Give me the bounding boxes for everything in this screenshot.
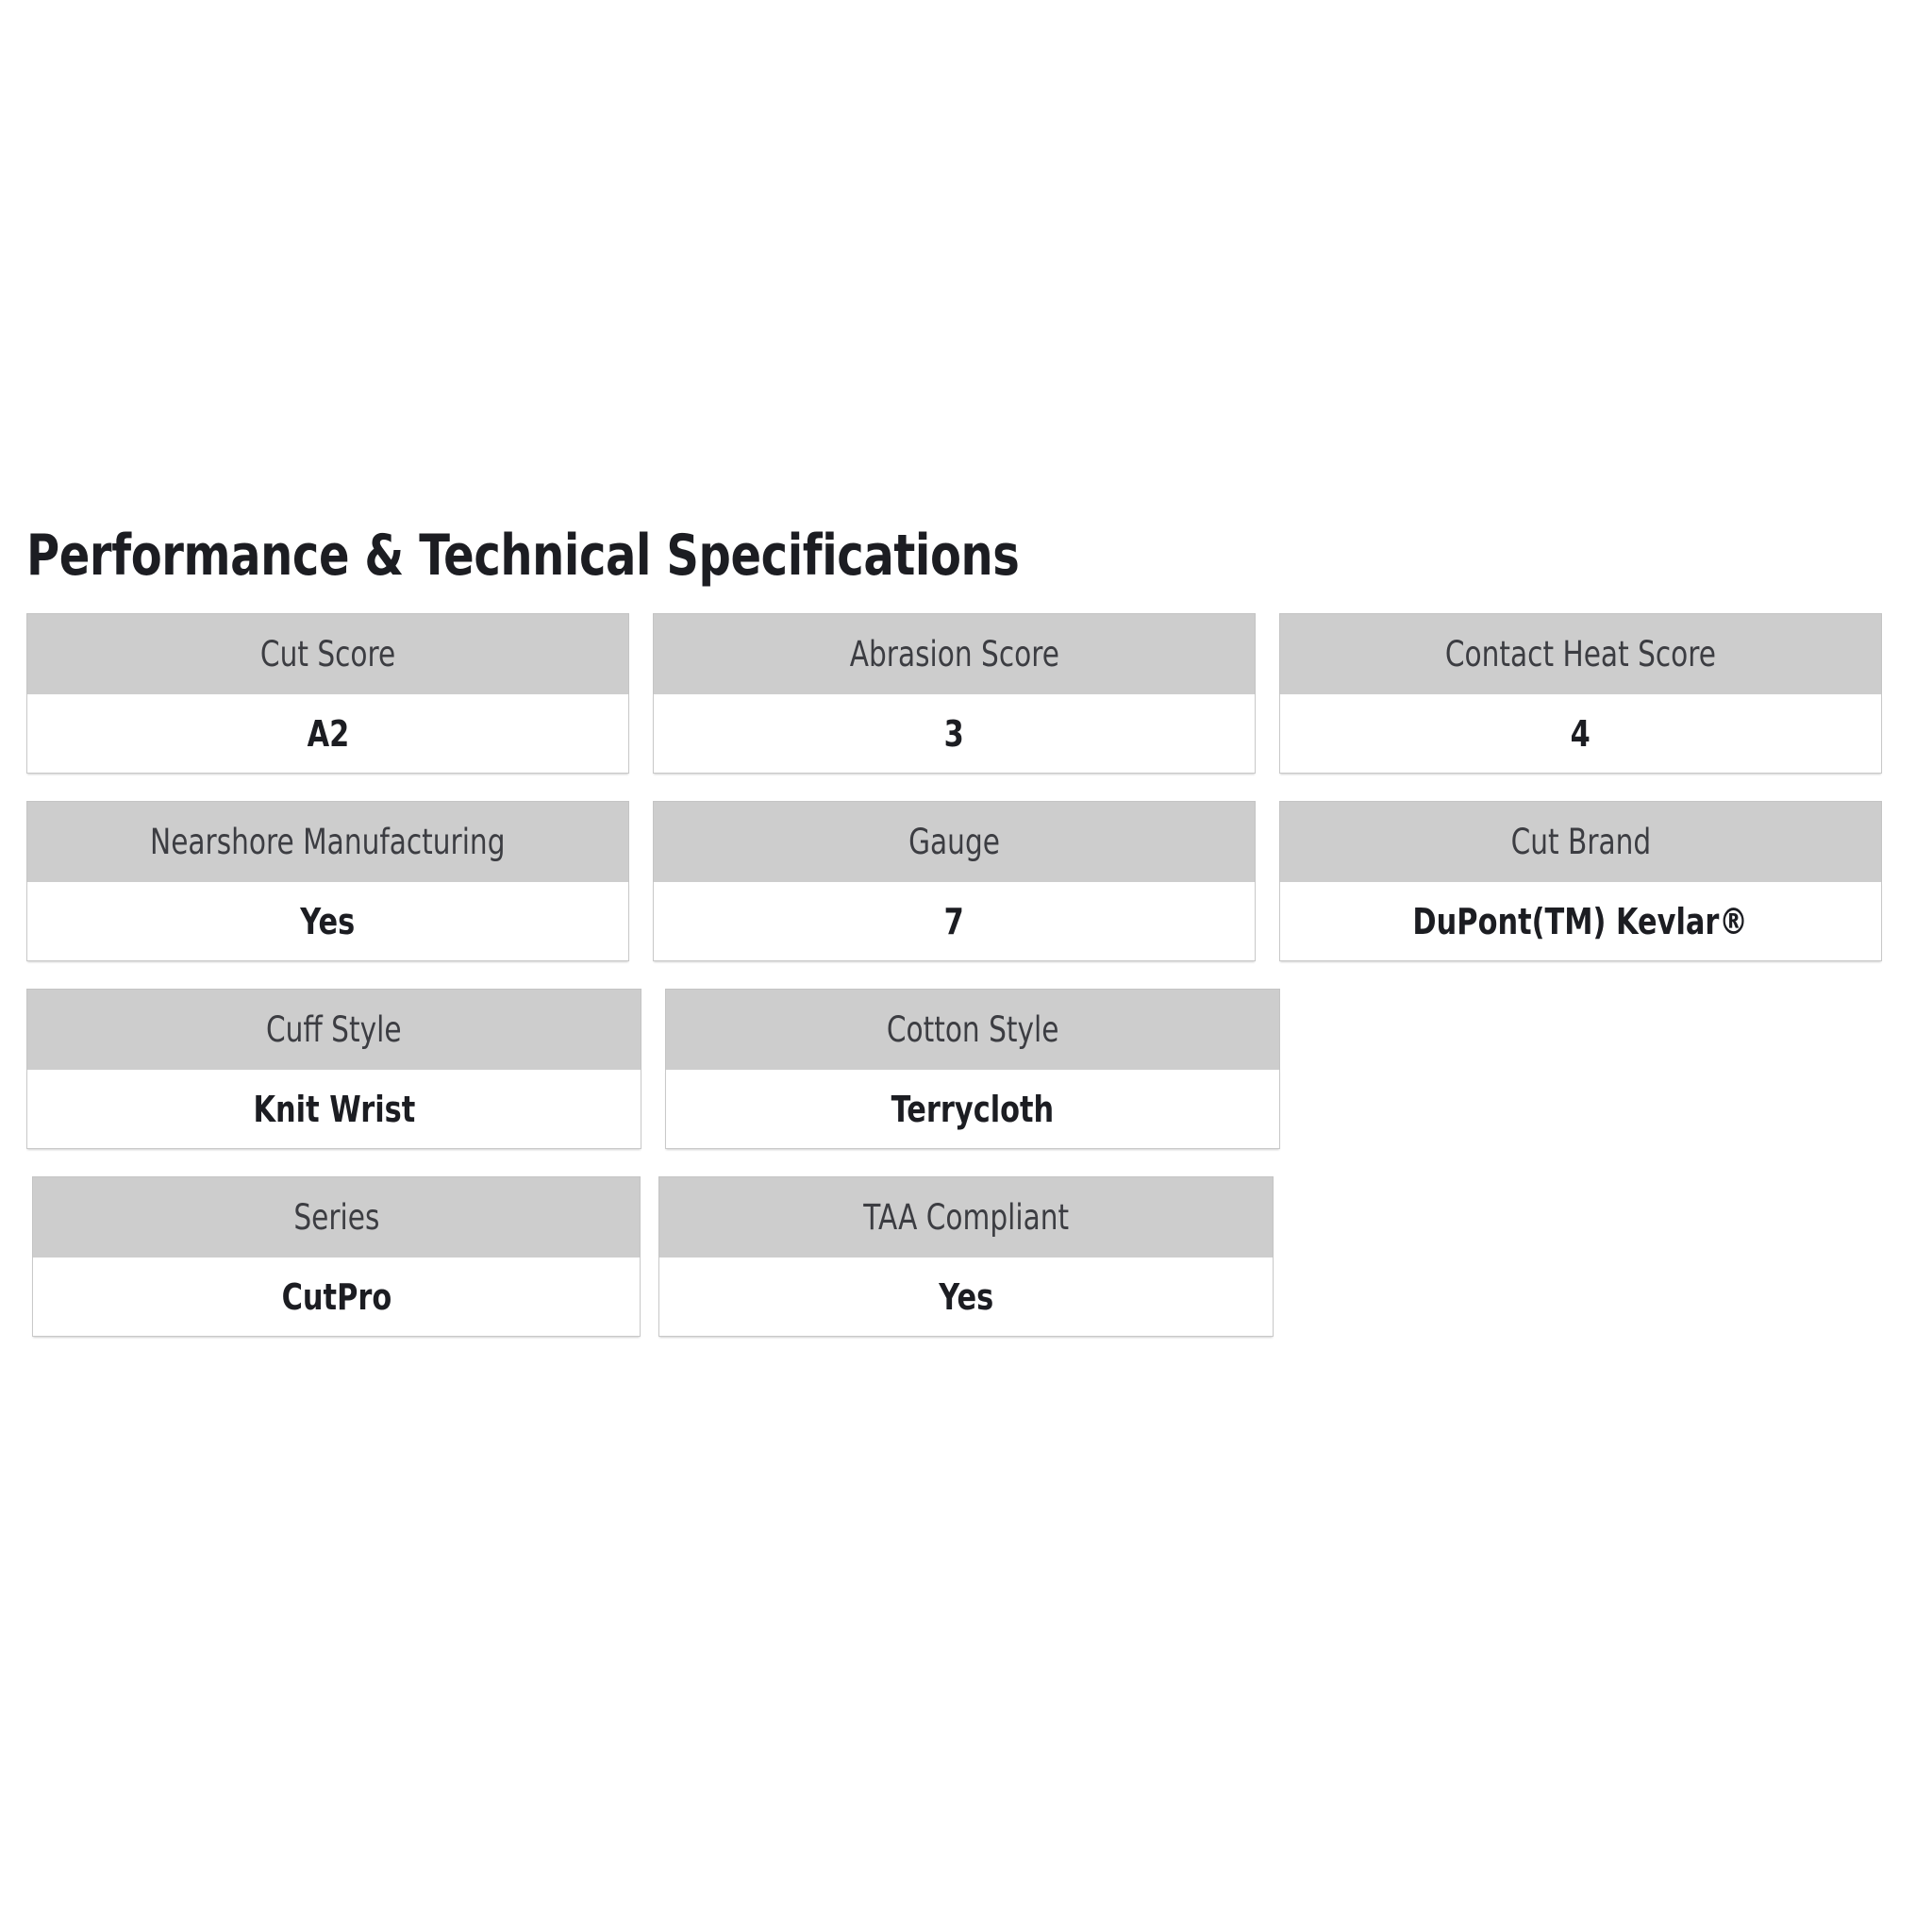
spec-card-taa-compliant: TAA Compliant Yes (658, 1176, 1274, 1337)
spec-card-label: Cuff Style (266, 1012, 402, 1047)
spec-card-series: Series CutPro (32, 1176, 641, 1337)
spec-card-label: Series (293, 1200, 379, 1235)
spec-card-body: Yes (26, 882, 629, 961)
spec-card-header: Series (32, 1176, 641, 1257)
spec-card-body: 3 (653, 694, 1256, 774)
spec-card-header: Cuff Style (26, 989, 641, 1070)
specifications-grid: Cut Score A2 Abrasion Score 3 Contact He… (26, 613, 1906, 1364)
spec-card-value: DuPont(TM) Kevlar® (1413, 904, 1748, 940)
spec-card-value: Yes (939, 1279, 993, 1315)
spec-card-value: A2 (307, 716, 349, 752)
spec-card-cut-brand: Cut Brand DuPont(TM) Kevlar® (1279, 801, 1882, 961)
spec-card-body: CutPro (32, 1257, 641, 1337)
spec-card-body: Terrycloth (665, 1070, 1280, 1149)
spec-row: Cuff Style Knit Wrist Cotton Style Terry… (26, 989, 1906, 1149)
spec-card-label: Cut Brand (1510, 824, 1651, 859)
spec-card-value: Terrycloth (891, 1091, 1055, 1127)
spec-card-label: TAA Compliant (863, 1200, 1069, 1235)
spec-card-label: Contact Heat Score (1445, 637, 1716, 672)
spec-card-label: Abrasion Score (849, 637, 1058, 672)
spec-card-body: A2 (26, 694, 629, 774)
spec-card-header: Abrasion Score (653, 613, 1256, 694)
spec-card-label: Cotton Style (887, 1012, 1059, 1047)
spec-card-header: TAA Compliant (658, 1176, 1274, 1257)
spec-row: Cut Score A2 Abrasion Score 3 Contact He… (26, 613, 1906, 774)
spec-card-abrasion-score: Abrasion Score 3 (653, 613, 1256, 774)
spec-card-label: Cut Score (260, 637, 395, 672)
spec-card-header: Nearshore Manufacturing (26, 801, 629, 882)
spec-card-cotton-style: Cotton Style Terrycloth (665, 989, 1280, 1149)
spec-row: Nearshore Manufacturing Yes Gauge 7 Cut … (26, 801, 1906, 961)
spec-card-cuff-style: Cuff Style Knit Wrist (26, 989, 641, 1149)
spec-card-value: Knit Wrist (253, 1091, 415, 1127)
specifications-page: Performance & Technical Specifications C… (0, 0, 1932, 1932)
spec-card-body: Yes (658, 1257, 1274, 1337)
spec-card-body: DuPont(TM) Kevlar® (1279, 882, 1882, 961)
spec-card-gauge: Gauge 7 (653, 801, 1256, 961)
spec-card-label: Nearshore Manufacturing (150, 824, 505, 859)
spec-row: Series CutPro TAA Compliant Yes (26, 1176, 1906, 1337)
spec-card-value: 3 (944, 716, 964, 752)
spec-card-header: Gauge (653, 801, 1256, 882)
spec-card-label: Gauge (908, 824, 1000, 859)
spec-card-body: 4 (1279, 694, 1882, 774)
spec-card-body: Knit Wrist (26, 1070, 641, 1149)
spec-card-header: Cut Score (26, 613, 629, 694)
spec-card-header: Contact Heat Score (1279, 613, 1882, 694)
spec-card-cut-score: Cut Score A2 (26, 613, 629, 774)
spec-card-header: Cut Brand (1279, 801, 1882, 882)
spec-card-body: 7 (653, 882, 1256, 961)
spec-card-contact-heat-score: Contact Heat Score 4 (1279, 613, 1882, 774)
spec-card-value: CutPro (281, 1279, 391, 1315)
spec-card-value: 4 (1571, 716, 1591, 752)
spec-card-nearshore-manufacturing: Nearshore Manufacturing Yes (26, 801, 629, 961)
spec-card-header: Cotton Style (665, 989, 1280, 1070)
page-title: Performance & Technical Specifications (26, 526, 1019, 586)
spec-card-value: 7 (944, 904, 964, 940)
spec-card-value: Yes (301, 904, 356, 940)
